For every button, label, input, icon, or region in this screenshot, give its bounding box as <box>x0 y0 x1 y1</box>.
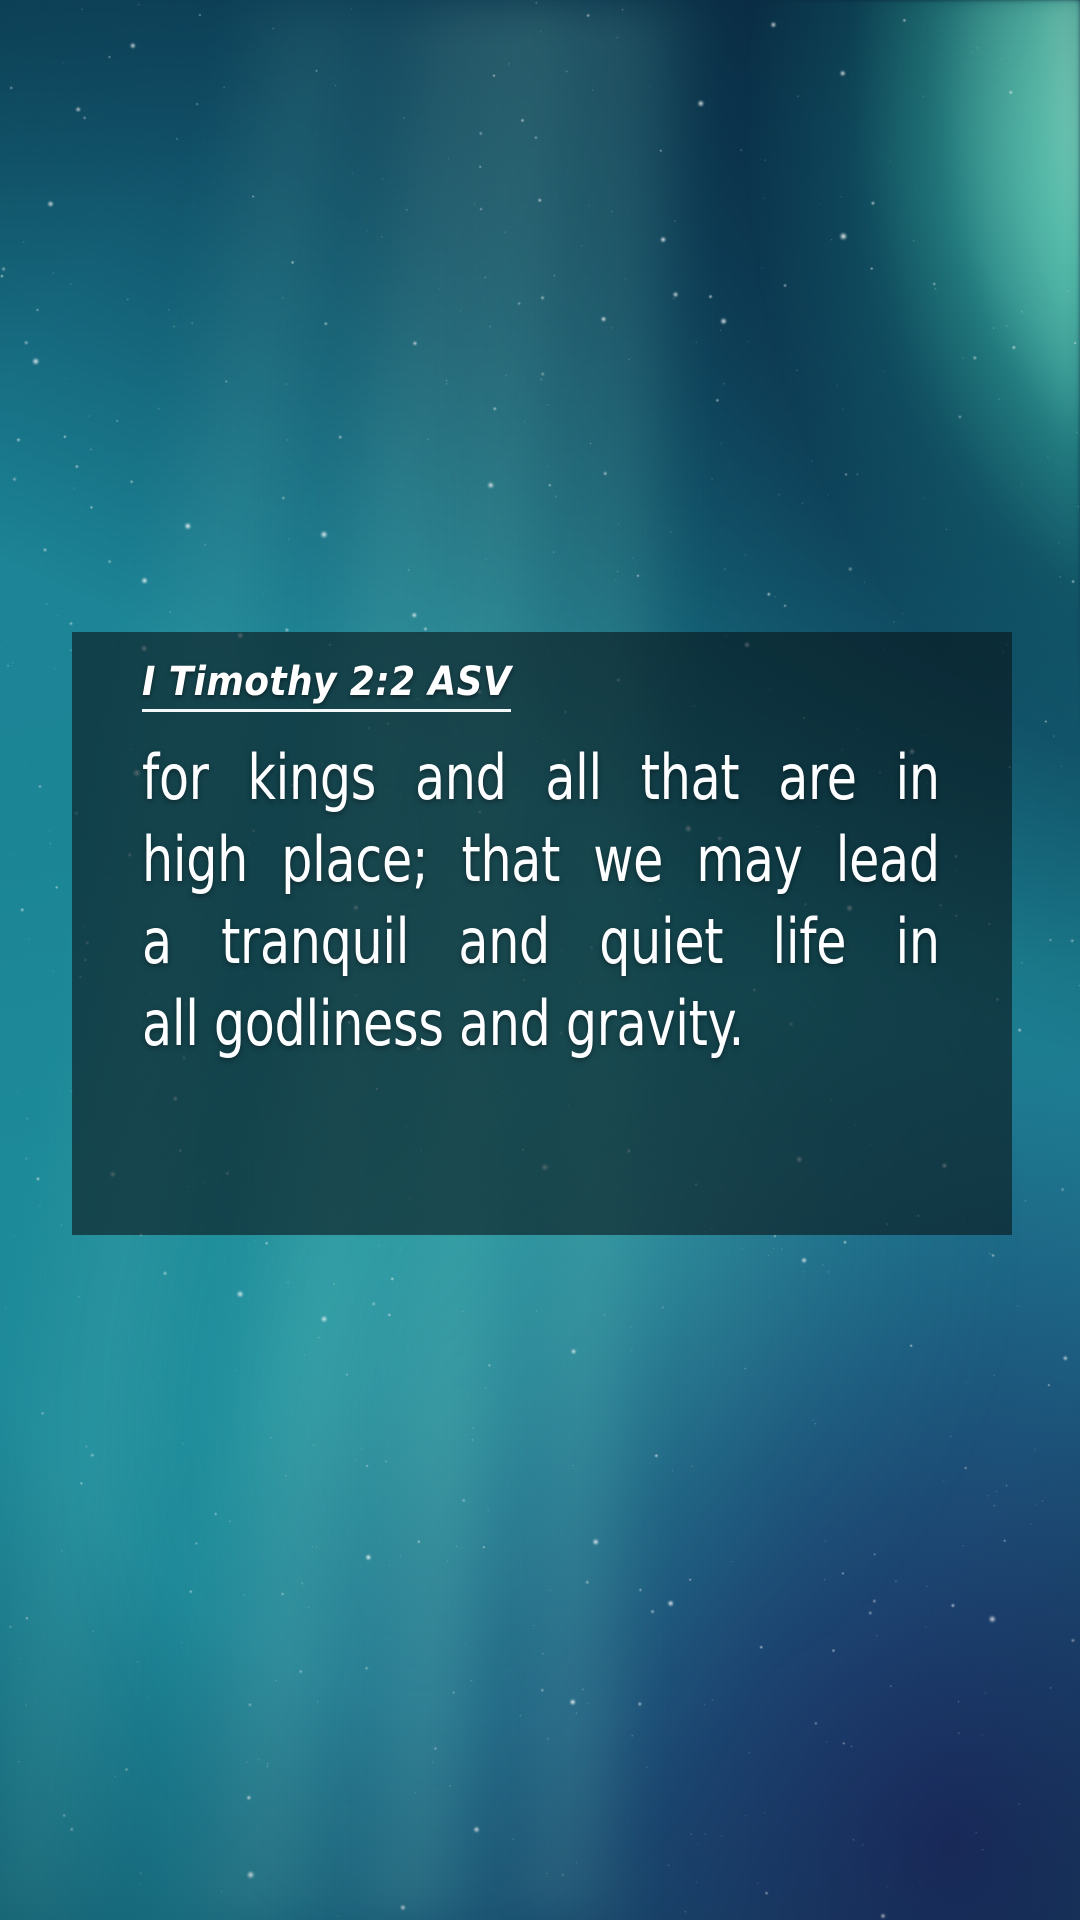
verse-reference: I Timothy 2:2 ASV <box>142 662 511 712</box>
verse-card: I Timothy 2:2 ASV forkingsandallthatarei… <box>72 632 1012 1235</box>
verse-word: are <box>778 737 856 819</box>
verse-word: that <box>461 819 560 901</box>
verse-word: kings <box>248 737 377 819</box>
verse-text: forkingsandallthatareinhighplace;thatwem… <box>142 737 940 1065</box>
verse-word: life <box>773 901 847 983</box>
verse-word: high <box>142 819 248 901</box>
verse-word: and <box>458 901 550 983</box>
verse-word: for <box>142 737 209 819</box>
verse-word: all <box>545 737 602 819</box>
verse-word: in <box>896 737 940 819</box>
verse-word: place; <box>281 819 428 901</box>
verse-word: lead <box>836 819 940 901</box>
verse-word: in <box>895 901 939 983</box>
verse-word: that <box>641 737 740 819</box>
verse-word: may <box>696 819 802 901</box>
verse-line: highplace;thatwemaylead <box>142 819 940 901</box>
verse-word: a <box>142 901 172 983</box>
verse-line: atranquilandquietlifein <box>142 901 940 983</box>
verse-word: we <box>593 819 663 901</box>
verse-word: tranquil <box>221 901 409 983</box>
verse-line: all godliness and gravity. <box>142 983 940 1065</box>
wallpaper-canvas: I Timothy 2:2 ASV forkingsandallthatarei… <box>0 0 1080 1920</box>
verse-word: and <box>415 737 507 819</box>
verse-word: quiet <box>599 901 723 983</box>
verse-line: forkingsandallthatarein <box>142 737 940 819</box>
